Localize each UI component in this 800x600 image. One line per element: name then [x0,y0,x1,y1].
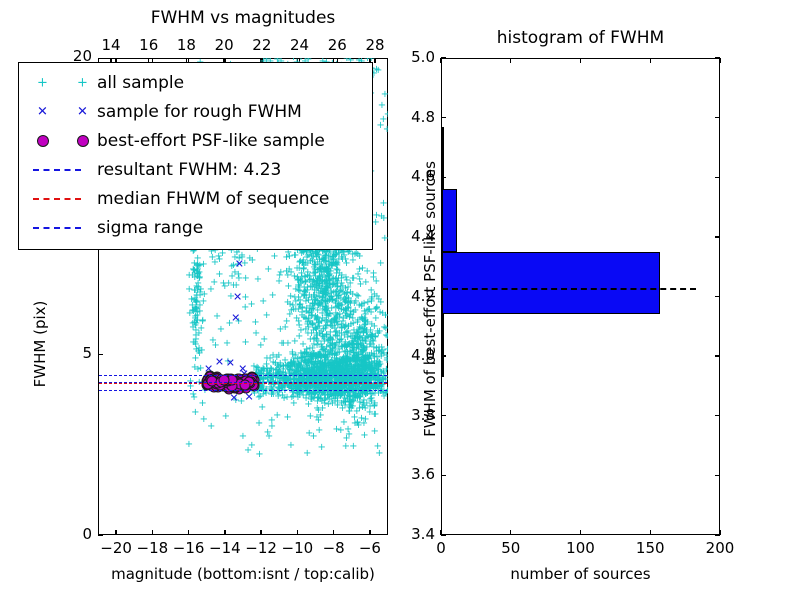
legend-row-4: median FHWM of sequence [19,185,372,213]
legend-label: resultant FWHM: 4.23 [97,160,281,180]
sigma-range-lower-line [99,390,387,391]
legend-line-icon [33,227,81,229]
legend-row-3: resultant FWHM: 4.23 [19,156,372,184]
right-xtick-label: 200 [698,539,742,557]
xtick-top-label: 16 [133,36,165,54]
legend-row-2: best-effort PSF-like sample [19,127,372,155]
legend-circle-icon [77,135,89,147]
right-ytick-label: 4.8 [393,108,435,126]
histogram-median-line [442,288,696,290]
legend-cross-icon: ✕ [37,106,48,119]
legend-line-icon [33,198,81,200]
median-fhwm-line [99,383,387,384]
legend-label: all sample [97,73,184,93]
legend-line-icon [33,169,81,171]
legend-label: best-effort PSF-like sample [97,131,325,151]
xtick-bottom-label: −6 [348,539,392,557]
legend-label: median FHWM of sequence [97,189,329,209]
legend-plus-icon: + [77,77,88,90]
xtick-top-label: 20 [208,36,240,54]
right-ytick-right [715,534,720,535]
right-xtick-top [719,58,720,63]
xtick-top-label: 22 [246,36,278,54]
legend-circle-icon [37,135,49,147]
legend-plus-icon: + [37,77,48,90]
xtick-top-label: 18 [170,36,202,54]
ytick-label: 0 [58,525,92,543]
legend-label: sample for rough FWHM [97,102,302,122]
xtick-top-label: 26 [321,36,353,54]
left-xaxis-title: magnitude (bottom:isnt / top:calib) [98,565,388,583]
histogram-bar [442,189,457,252]
sigma-range-upper-line [99,375,387,376]
right-xtick-label: 150 [628,539,672,557]
histogram-bar [442,252,660,315]
right-ytick-label: 5.0 [393,48,435,66]
xtick-top-label: 24 [284,36,316,54]
legend-row-5: sigma range [19,214,372,242]
xtick-top-label: 14 [95,36,127,54]
resultant-fwhm-line [99,382,387,383]
histogram-bar [442,127,444,190]
left-yaxis-title: FWHM (pix) [31,269,49,419]
figure-canvas: FWHM vs magnitudes −20−18−16−14−12−10−8−… [0,0,800,600]
right-ytick-label: 3.4 [393,525,435,543]
xtick-top-label: 28 [359,36,391,54]
legend-row-1: ✕✕sample for rough FWHM [19,98,372,126]
right-plot-title: histogram of FWHM [441,28,720,48]
legend-cross-icon: ✕ [77,106,88,119]
right-xaxis-title: number of sources [441,565,720,583]
right-xtick-label: 50 [489,539,533,557]
legend-row-0: ++all sample [19,69,372,97]
right-ytick-label: 3.6 [393,465,435,483]
histogram-bars-layer [442,59,719,534]
legend-label: sigma range [97,218,203,238]
right-ytick [441,534,446,535]
histogram-bar [442,314,444,377]
ytick-label: 5 [58,344,92,362]
right-yaxis-title: FWHM of best-effort PSF-like sources [421,134,439,464]
left-plot-title: FWHM vs magnitudes [98,8,388,28]
ytick [98,534,103,535]
right-xtick-label: 100 [559,539,603,557]
legend-box: ++all sample✕✕sample for rough FWHMbest-… [18,62,373,250]
